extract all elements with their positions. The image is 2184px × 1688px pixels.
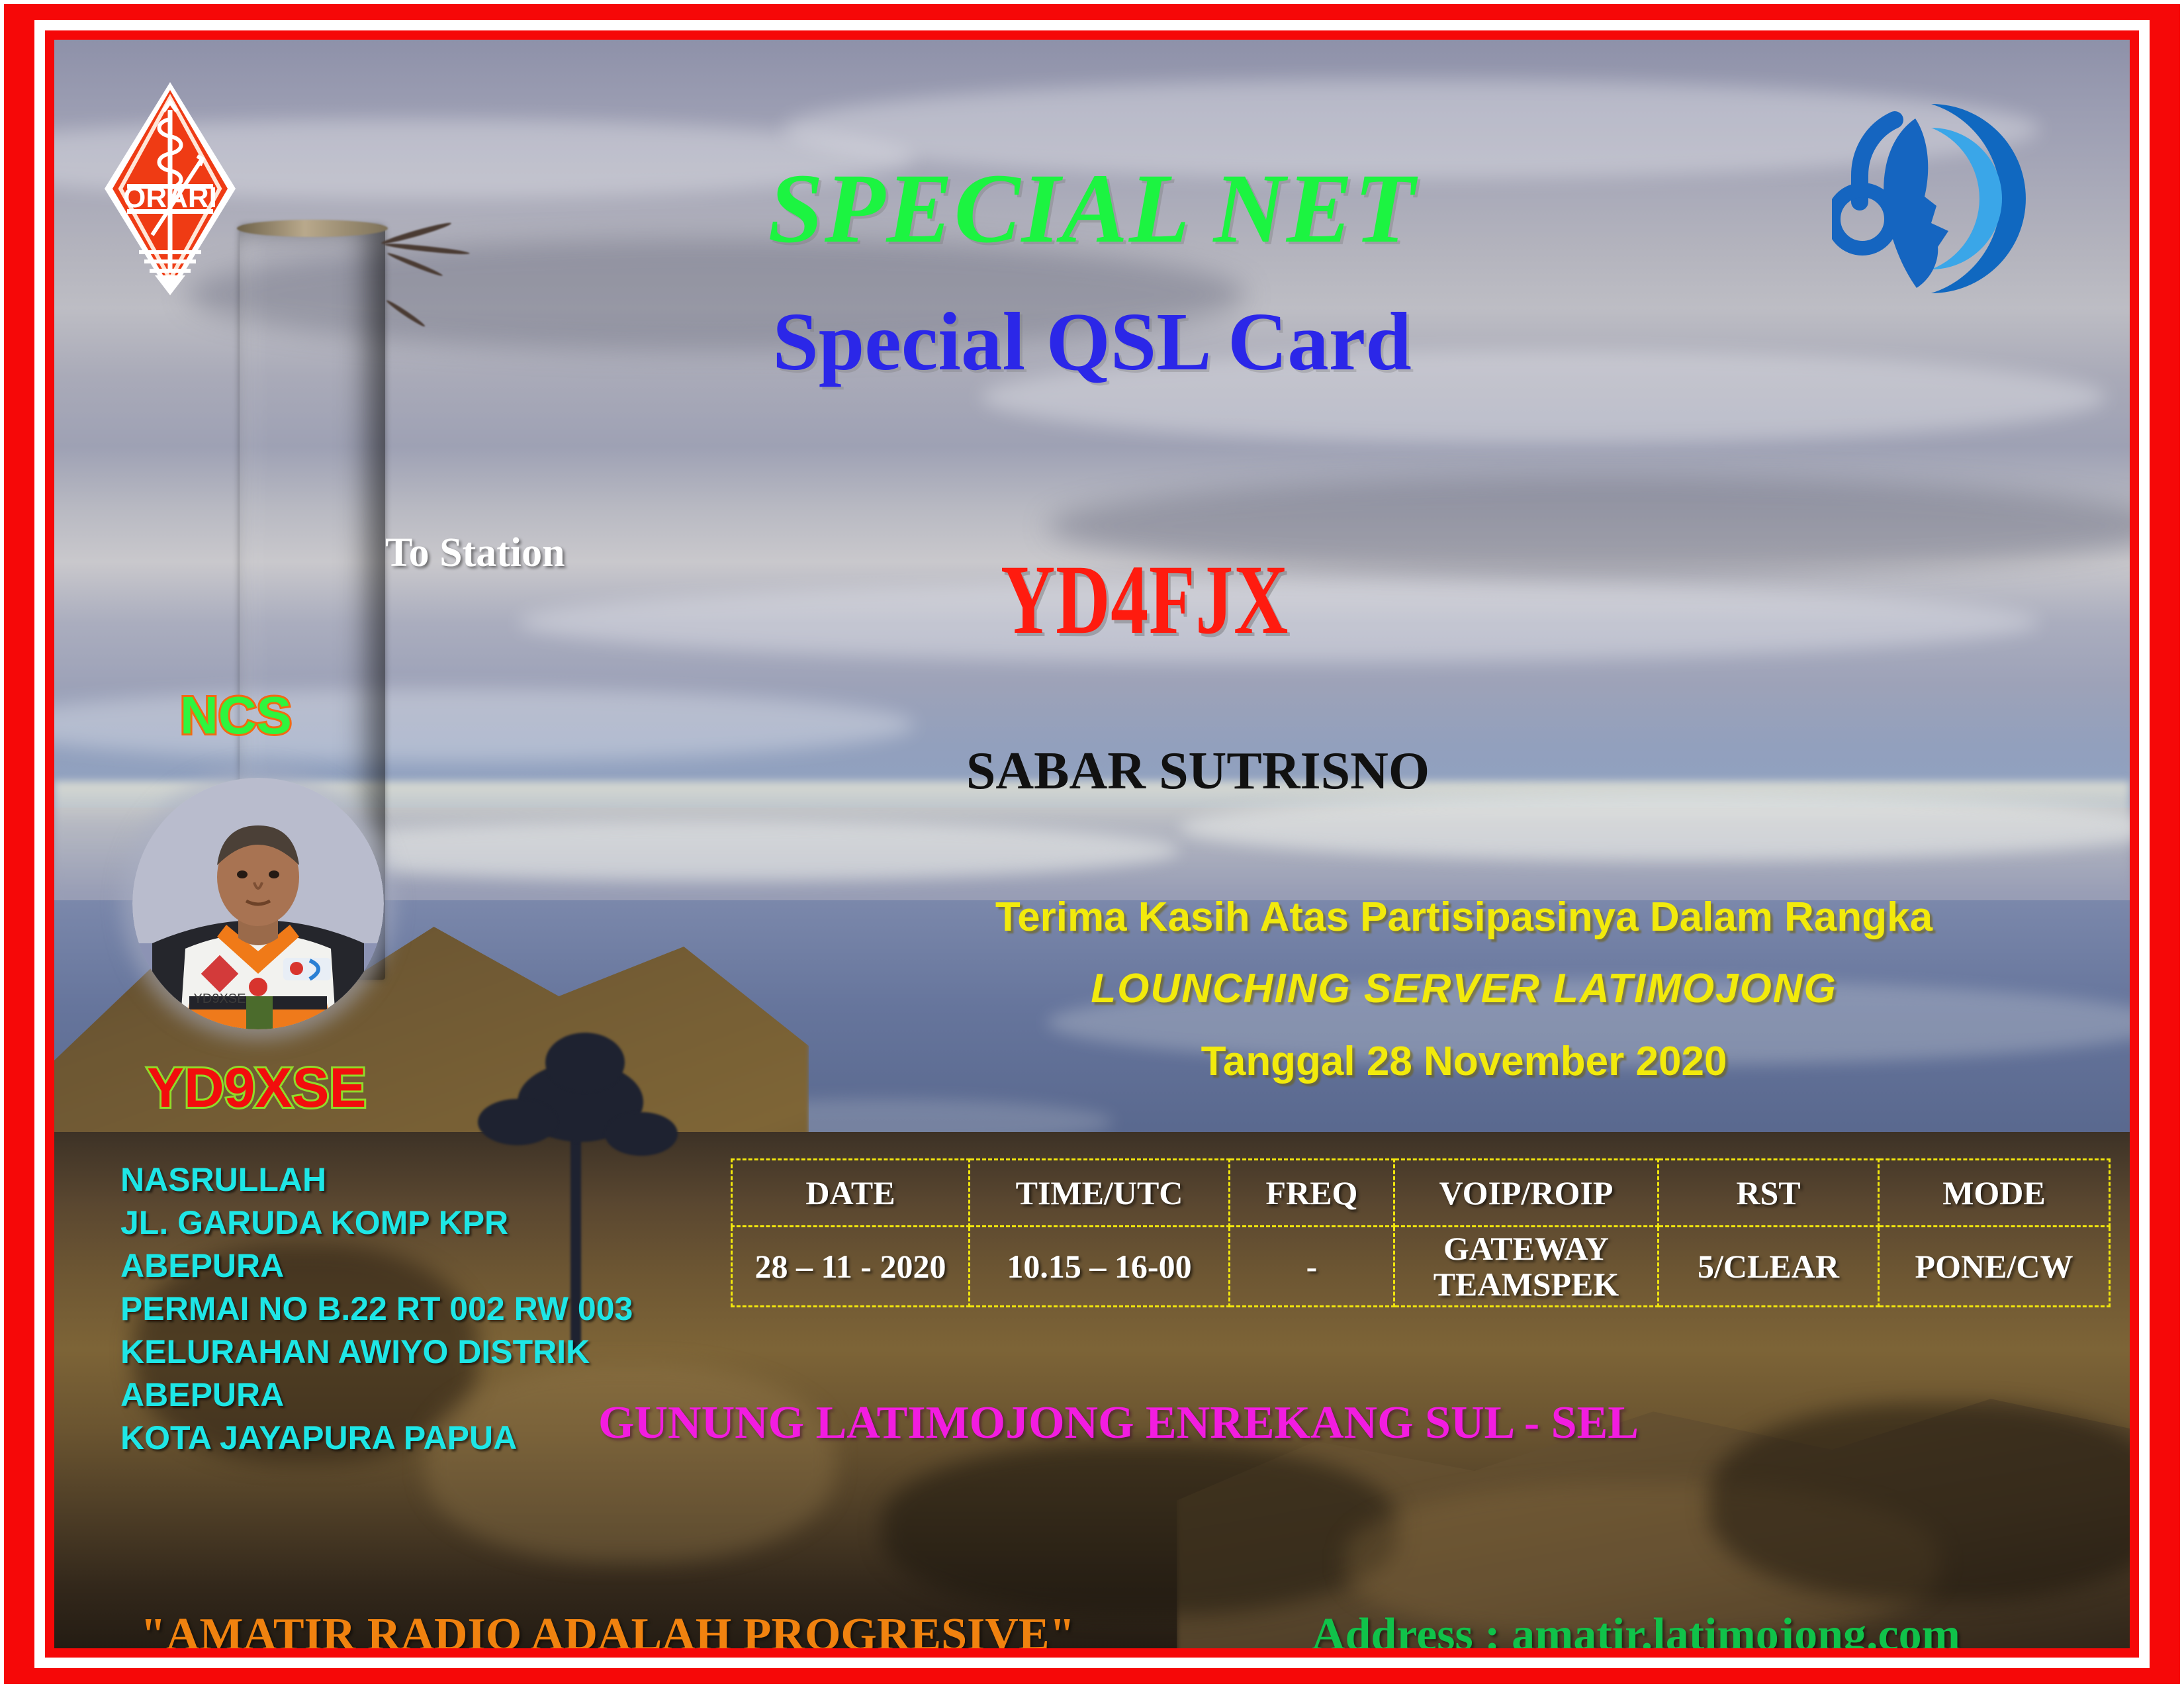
ncs-callsign: YD9XSE: [147, 1056, 367, 1120]
event-date-line: Tanggal 28 November 2020: [809, 1038, 2119, 1085]
col-header-voip-roip: VOIP/ROIP: [1394, 1160, 1659, 1227]
cell-mode: PONE/CW: [1879, 1227, 2110, 1307]
to-station-label: To Station: [385, 530, 565, 577]
tree-canopy: [478, 1099, 557, 1145]
col-header-mode: MODE: [1879, 1160, 2110, 1227]
background-photo: ORARI: [54, 40, 2130, 1648]
address-line: KELURAHAN AWIYO DISTRIK: [120, 1331, 633, 1374]
cell-voip-line-2: TEAMSPEK: [1395, 1266, 1657, 1302]
table-row: 28 – 11 - 2020 10.15 – 16-00 - GATEWAY T…: [732, 1227, 2110, 1307]
web-address: Address : amatir.latimojong.com: [1312, 1609, 1960, 1648]
col-header-date: DATE: [732, 1160, 970, 1227]
shirt-callsign: YD9XSE: [194, 992, 246, 1006]
cell-rst: 5/CLEAR: [1659, 1227, 1879, 1307]
page-subtitle: Special QSL Card: [54, 301, 2130, 384]
col-header-time: TIME/UTC: [970, 1160, 1230, 1227]
qso-log-table: DATE TIME/UTC FREQ VOIP/ROIP RST MODE 28…: [731, 1158, 2111, 1307]
cell-freq: -: [1230, 1227, 1394, 1307]
ncs-operator-photo: YD9XSE: [132, 778, 384, 1029]
address-line: ABEPURA: [120, 1244, 633, 1288]
address-line: JL. GARUDA KOMP KPR: [120, 1201, 633, 1244]
cloud-band: [1179, 794, 2130, 861]
address-line: PERMAI NO B.22 RT 002 RW 003: [120, 1288, 633, 1331]
rock-shadow: [882, 1443, 1398, 1615]
tree-canopy: [545, 1033, 625, 1092]
event-line: LOUNCHING SERVER LATIMOJONG: [809, 965, 2119, 1012]
station-callsign: YD4FJX: [1001, 543, 1289, 657]
operator-name: SABAR SUTRISNO: [160, 741, 2130, 802]
address-line: NASRULLAH: [120, 1158, 633, 1201]
qsl-card: ORARI: [0, 0, 2184, 1688]
cloud-band: [253, 821, 1179, 880]
location-line: GUNUNG LATIMOJONG ENREKANG SUL - SEL: [81, 1397, 2130, 1450]
cell-voip-line-1: GATEWAY: [1395, 1231, 1657, 1266]
page-title: SPECIAL NET: [54, 159, 2130, 258]
table-header-row: DATE TIME/UTC FREQ VOIP/ROIP RST MODE: [732, 1160, 2110, 1227]
cell-time: 10.15 – 16-00: [970, 1227, 1230, 1307]
cell-voip-roip: GATEWAY TEAMSPEK: [1394, 1227, 1659, 1307]
cell-date: 28 – 11 - 2020: [732, 1227, 970, 1307]
motto-text: "AMATIR RADIO ADALAH PROGRESIVE": [140, 1609, 1075, 1648]
col-header-freq: FREQ: [1230, 1160, 1394, 1227]
ncs-label: NCS: [180, 685, 292, 746]
tree-canopy: [605, 1112, 678, 1156]
thanks-line: Terima Kasih Atas Partisipasinya Dalam R…: [809, 894, 2119, 941]
col-header-rst: RST: [1659, 1160, 1879, 1227]
